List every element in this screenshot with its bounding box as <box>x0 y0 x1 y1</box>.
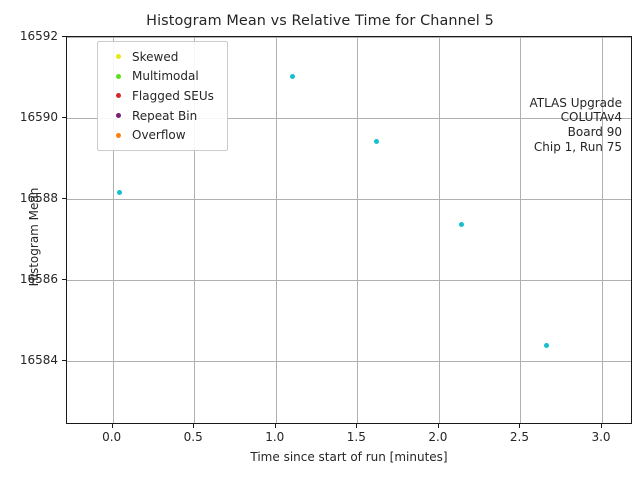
x-axis-tick-label: 2.5 <box>510 430 529 444</box>
gridline-vertical <box>520 37 521 423</box>
y-axis-tick <box>62 117 66 118</box>
legend[interactable]: SkewedMultimodalFlagged SEUsRepeat BinOv… <box>97 41 228 151</box>
x-axis-tick-label: 2.0 <box>428 430 447 444</box>
data-point <box>544 343 549 348</box>
legend-item-label: Flagged SEUs <box>132 89 214 103</box>
legend-marker-icon <box>104 93 132 98</box>
y-axis-tick <box>62 279 66 280</box>
x-axis-tick <box>275 424 276 428</box>
legend-swatch <box>116 93 121 98</box>
y-axis-tick-label: 16592 <box>20 29 58 43</box>
annotation-line: Board 90 <box>529 125 622 140</box>
legend-item-flagged-seus[interactable]: Flagged SEUs <box>104 86 221 106</box>
legend-swatch <box>116 74 121 79</box>
x-axis-tick <box>356 424 357 428</box>
data-point <box>374 139 379 144</box>
data-point <box>459 222 464 227</box>
y-axis-tick <box>62 360 66 361</box>
y-axis-tick <box>62 198 66 199</box>
legend-marker-icon <box>104 54 132 59</box>
y-axis-label: Histogram Mean <box>27 107 41 367</box>
gridline-vertical <box>357 37 358 423</box>
page-title: Histogram Mean vs Relative Time for Chan… <box>0 13 640 29</box>
x-axis-tick <box>519 424 520 428</box>
gridline-horizontal <box>67 199 631 200</box>
x-axis-tick-label: 0.5 <box>184 430 203 444</box>
legend-marker-icon <box>104 133 132 138</box>
annotation-text: ATLAS UpgradeCOLUTAv4Board 90Chip 1, Run… <box>529 52 622 154</box>
legend-item-label: Overflow <box>132 128 186 142</box>
gridline-horizontal <box>67 361 631 362</box>
x-axis-tick <box>112 424 113 428</box>
data-point <box>290 74 295 79</box>
legend-item-repeat-bin[interactable]: Repeat Bin <box>104 106 221 126</box>
matplotlib-figure: Histogram Mean vs Relative Time for Chan… <box>0 0 640 480</box>
legend-item-label: Skewed <box>132 50 178 64</box>
legend-swatch <box>116 113 121 118</box>
x-axis-label: Time since start of run [minutes] <box>66 450 632 464</box>
x-axis-tick <box>601 424 602 428</box>
data-point <box>117 190 122 195</box>
legend-item-label: Repeat Bin <box>132 109 197 123</box>
legend-item-overflow[interactable]: Overflow <box>104 125 221 145</box>
legend-marker-icon <box>104 74 132 79</box>
legend-swatch <box>116 133 121 138</box>
legend-swatch <box>116 54 121 59</box>
annotation-line: COLUTAv4 <box>529 110 622 125</box>
annotation-line: Chip 1, Run 75 <box>529 140 622 155</box>
legend-item-multimodal[interactable]: Multimodal <box>104 67 221 87</box>
legend-item-label: Multimodal <box>132 69 199 83</box>
y-axis-tick <box>62 36 66 37</box>
x-axis-tick <box>193 424 194 428</box>
x-axis-tick-label: 3.0 <box>591 430 610 444</box>
gridline-vertical <box>439 37 440 423</box>
legend-item-skewed[interactable]: Skewed <box>104 47 221 67</box>
x-axis-tick-label: 1.5 <box>347 430 366 444</box>
x-axis-tick-label: 1.0 <box>265 430 284 444</box>
gridline-vertical <box>276 37 277 423</box>
gridline-horizontal <box>67 280 631 281</box>
legend-marker-icon <box>104 113 132 118</box>
annotation-line: ATLAS Upgrade <box>529 96 622 111</box>
data-point <box>631 395 633 400</box>
gridline-horizontal <box>67 37 631 38</box>
x-axis-tick-label: 0.0 <box>102 430 121 444</box>
x-axis-tick <box>438 424 439 428</box>
